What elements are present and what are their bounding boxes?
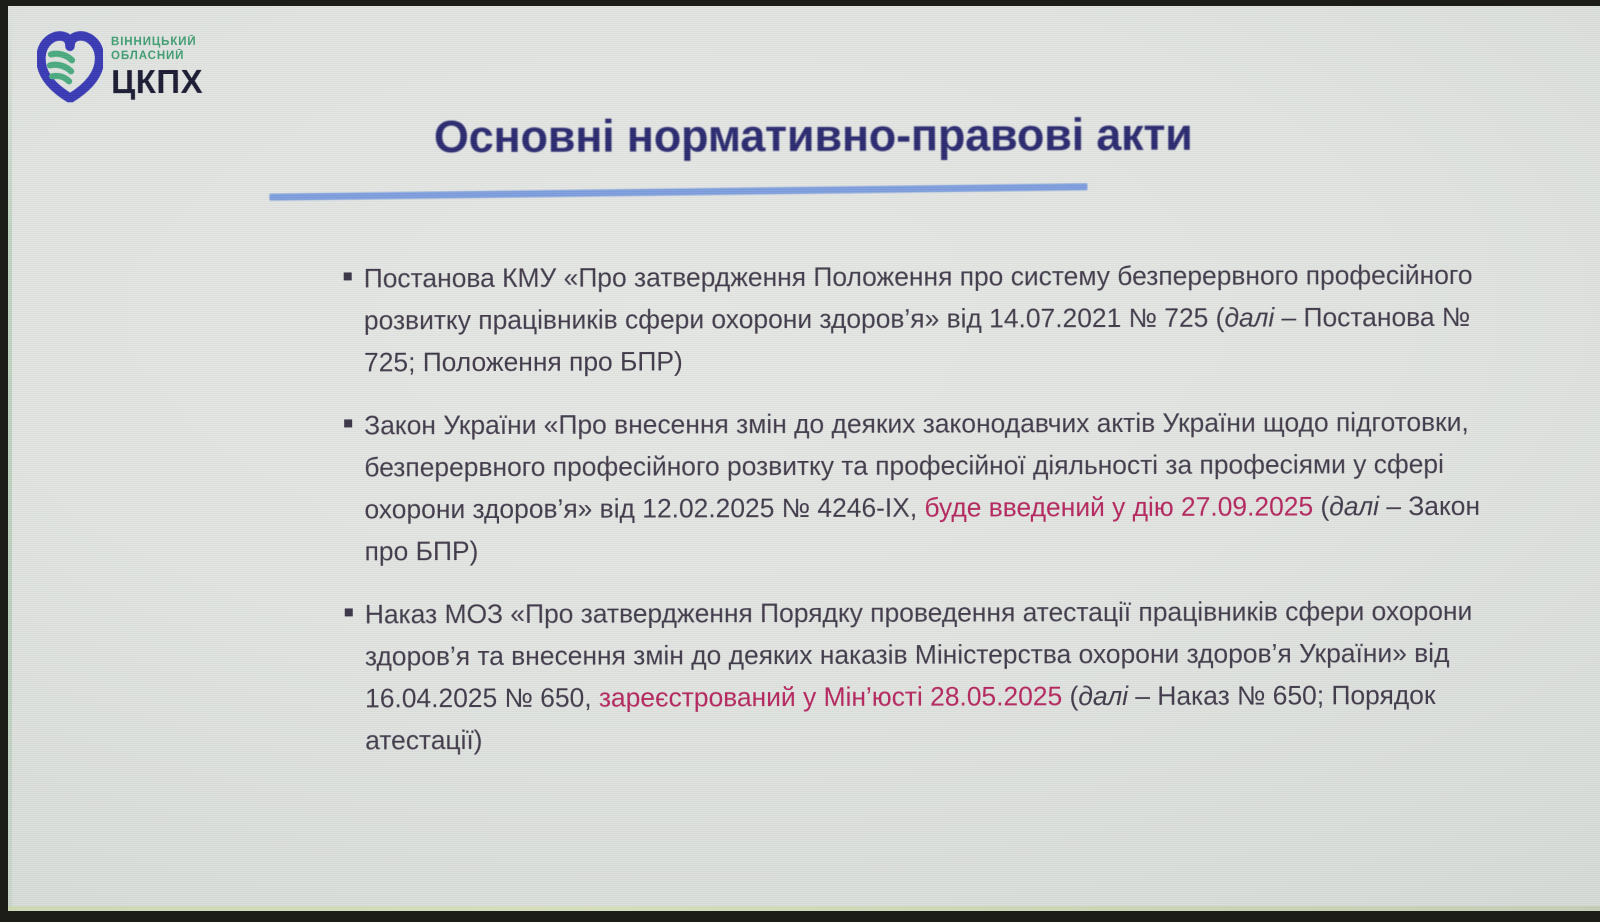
bullet-text: Наказ МОЗ «Про затвердження Порядку пров… bbox=[365, 590, 1496, 762]
logo-line-1: ВІННИЦЬКИЙ bbox=[111, 35, 203, 49]
organization-logo: ВІННИЦЬКИЙ ОБЛАСНИЙ ЦКПХ bbox=[37, 30, 203, 103]
bullet-square-icon bbox=[344, 272, 352, 280]
bullet-square-icon bbox=[345, 608, 353, 616]
slide-surface: ВІННИЦЬКИЙ ОБЛАСНИЙ ЦКПХ Основні нормати… bbox=[8, 6, 1600, 911]
page-title: Основні нормативно-правові акти bbox=[265, 110, 1505, 162]
bullet-text: Постанова КМУ «Про затвердження Положенн… bbox=[364, 254, 1494, 384]
bullet-postanova-kmu: Постанова КМУ «Про затвердження Положенн… bbox=[344, 254, 1494, 384]
title-zone: Основні нормативно-правові акти bbox=[265, 110, 1505, 162]
bullet-zakon-ukrainy: Закон України «Про внесення змін до деяк… bbox=[344, 401, 1495, 573]
inline-italic-note: далі bbox=[1329, 491, 1379, 521]
inline-italic-note: далі bbox=[1078, 681, 1128, 711]
inline-highlight-note: буде введений у дію 27.09.2025 bbox=[924, 491, 1313, 522]
normative-acts-list: Постанова КМУ «Про затвердження Положенн… bbox=[344, 254, 1496, 762]
inline-text: ( bbox=[1313, 491, 1329, 521]
bullet-text: Закон України «Про внесення змін до деяк… bbox=[364, 401, 1495, 573]
shield-heart-logo-icon bbox=[37, 30, 103, 102]
inline-text: ( bbox=[1062, 681, 1078, 711]
logo-acronym: ЦКПХ bbox=[111, 65, 203, 100]
bullet-square-icon bbox=[344, 419, 352, 427]
inline-italic-note: далі bbox=[1224, 303, 1274, 333]
title-underline-rule bbox=[269, 183, 1087, 200]
inline-highlight-note: зареєстрований у Мін’юсті 28.05.2025 bbox=[599, 681, 1062, 712]
bullet-nakaz-moz: Наказ МОЗ «Про затвердження Порядку пров… bbox=[345, 590, 1496, 762]
slide-content-layer: ВІННИЦЬКИЙ ОБЛАСНИЙ ЦКПХ Основні нормати… bbox=[8, 6, 1600, 911]
logo-line-2: ОБЛАСНИЙ bbox=[111, 49, 203, 63]
projected-slide-photo: ВІННИЦЬКИЙ ОБЛАСНИЙ ЦКПХ Основні нормати… bbox=[0, 0, 1600, 922]
logo-wordmark: ВІННИЦЬКИЙ ОБЛАСНИЙ ЦКПХ bbox=[111, 33, 203, 100]
